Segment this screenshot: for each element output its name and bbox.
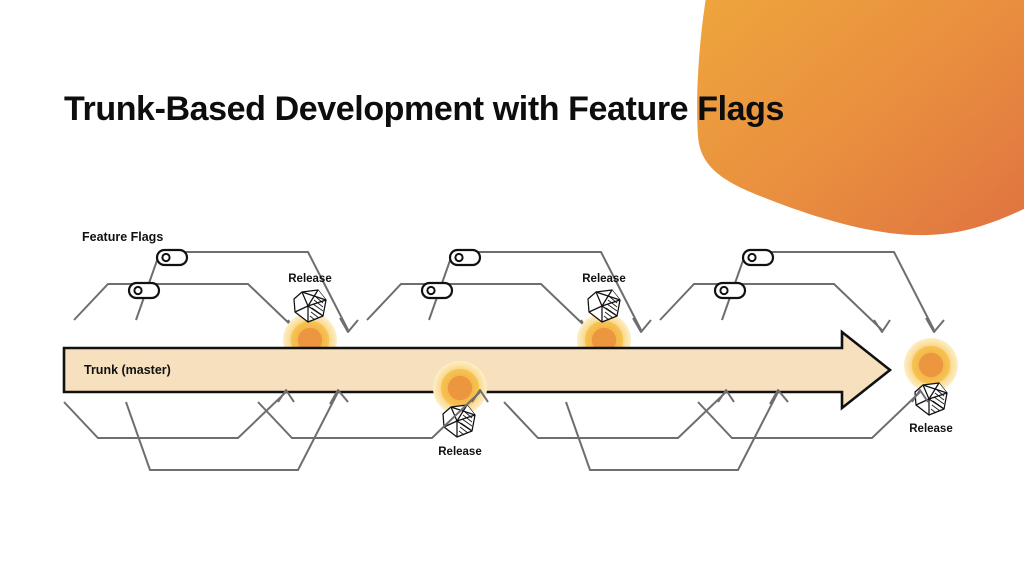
release-label: Release (582, 273, 625, 285)
trunk-label: Trunk (master) (84, 363, 171, 377)
release-label: Release (438, 446, 481, 458)
release-marker-3[interactable]: Release (582, 273, 625, 322)
toggle-off-icon[interactable] (715, 283, 745, 298)
polyhedron-package-icon (443, 405, 475, 437)
release-label: Release (288, 273, 331, 285)
release-marker-4[interactable]: Release (904, 338, 958, 435)
toggle-off-icon[interactable] (129, 283, 159, 298)
slide-canvas: Trunk-Based Development with Feature Fla… (0, 0, 1024, 571)
toggle-off-icon[interactable] (157, 250, 187, 265)
toggle-off-icon[interactable] (743, 250, 773, 265)
lower-branch-group-1 (64, 390, 348, 520)
release-marker-2[interactable]: Release (438, 405, 481, 458)
page-title: Trunk-Based Development with Feature Fla… (64, 90, 784, 129)
upper-branch-group-3 (660, 250, 944, 332)
lower-branch-group-2 (504, 390, 788, 520)
polyhedron-package-icon (915, 383, 947, 415)
toggle-off-icon[interactable] (450, 250, 480, 265)
toggle-off-icon[interactable] (422, 283, 452, 298)
release-marker-1[interactable]: Release (288, 273, 331, 322)
release-label: Release (909, 423, 952, 435)
trunk-based-development-diagram: Feature Flags Trunk (master) Release Rel… (0, 180, 1024, 520)
lower-branch-tail (258, 390, 928, 520)
feature-flags-label: Feature Flags (82, 230, 163, 244)
